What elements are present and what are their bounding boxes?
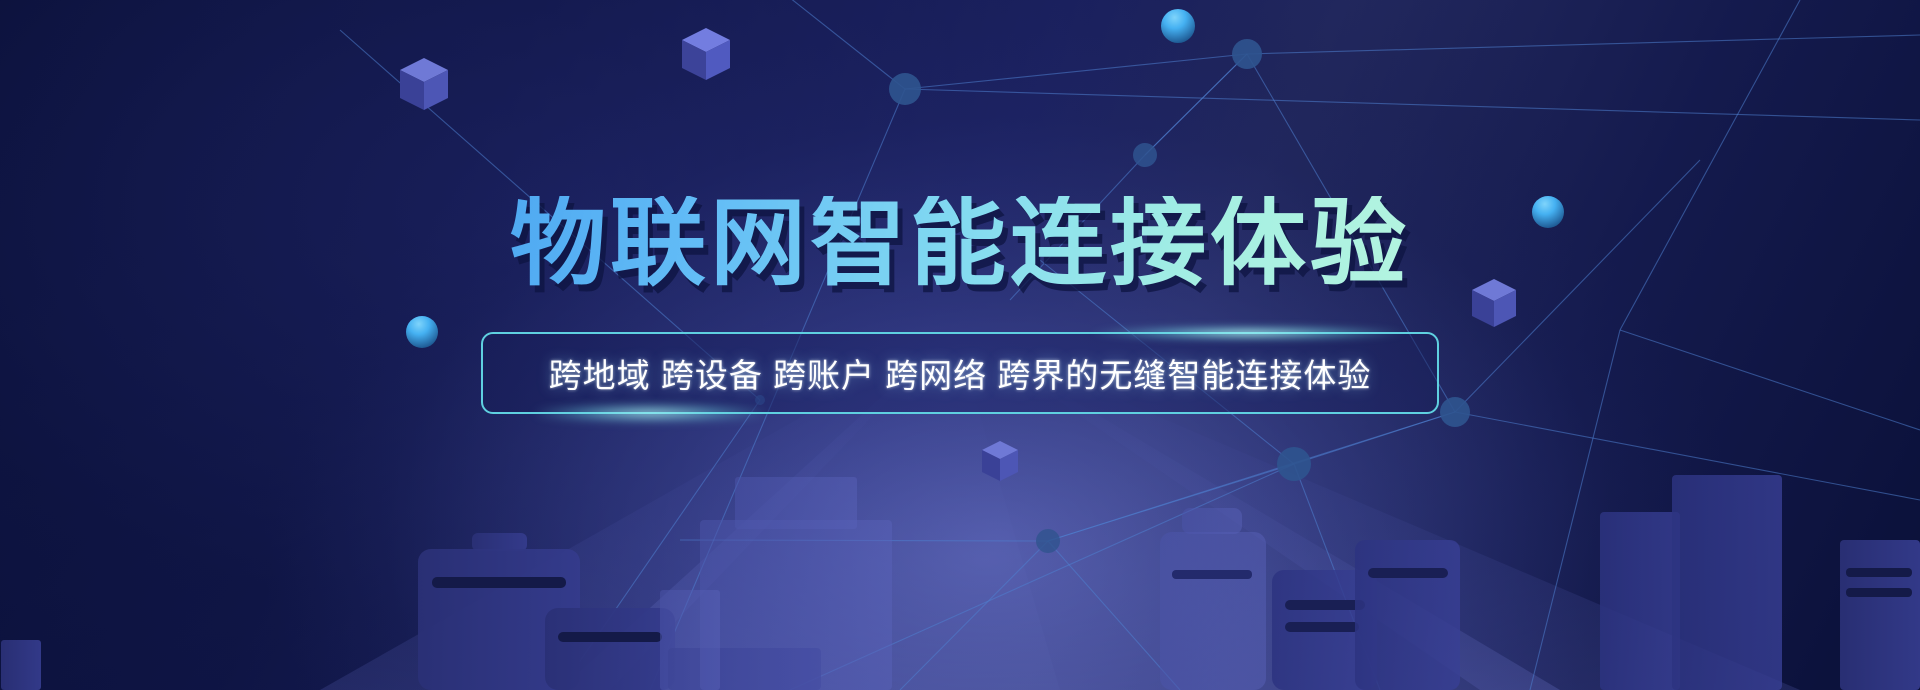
subtitle-container: 跨地域 跨设备 跨账户 跨网络 跨界的无缝智能连接体验 bbox=[481, 332, 1439, 414]
glow-accent-top-icon bbox=[1093, 326, 1403, 340]
glow-accent-bottom-icon bbox=[535, 405, 765, 421]
cube-mid-center bbox=[982, 441, 1018, 481]
cube-top-center bbox=[682, 28, 730, 80]
gradient-spheres bbox=[406, 9, 1564, 348]
cube-top-left bbox=[400, 58, 448, 110]
cube-right bbox=[1472, 279, 1516, 327]
iot-hero-banner: 物联网智能连接体验 跨地域 跨设备 跨账户 跨网络 跨界的无缝智能连接体验 bbox=[0, 0, 1920, 690]
subtitle-text: 跨地域 跨设备 跨账户 跨网络 跨界的无缝智能连接体验 bbox=[549, 349, 1372, 397]
page-title: 物联网智能连接体验 bbox=[510, 196, 1410, 292]
